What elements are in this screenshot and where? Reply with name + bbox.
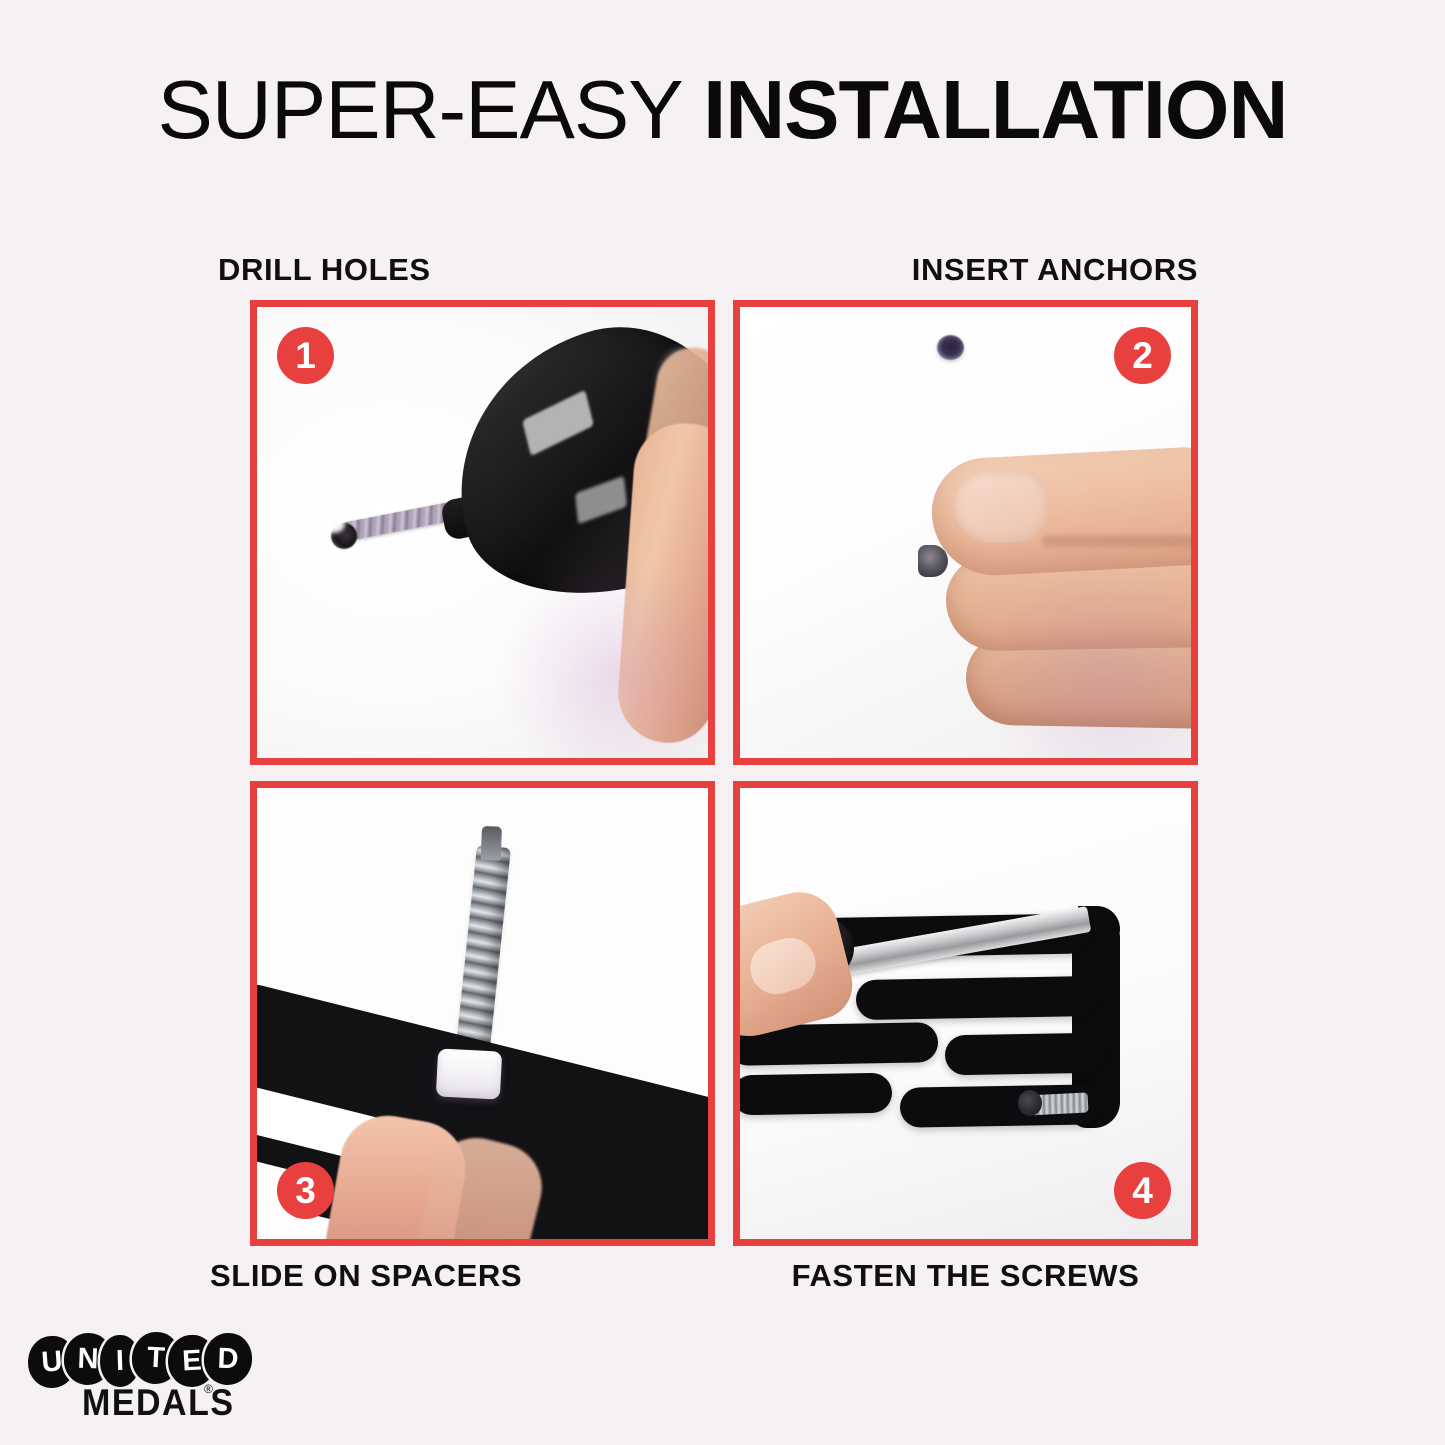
lens-flare [981, 558, 1191, 758]
step-2-badge: 2 [1114, 327, 1171, 384]
lens-flare [498, 558, 708, 758]
step-1-panel: 1 [250, 300, 715, 765]
hanger-bar-2 [856, 976, 1099, 1020]
logo-letter-blob: D [203, 1332, 253, 1386]
bottom-screw-head-icon [1018, 1090, 1042, 1116]
title-light-part: SUPER-EASY [158, 63, 704, 156]
step-4-badge: 4 [1114, 1162, 1171, 1219]
step-4-caption: FASTEN THE SCREWS [733, 1258, 1198, 1294]
infographic-root: SUPER-EASY INSTALLATION DRILL HOLES INSE… [0, 0, 1445, 1445]
step-1-caption: DRILL HOLES [218, 252, 431, 288]
thumbnail-icon [954, 471, 1048, 543]
step-1-badge: 1 [277, 327, 334, 384]
step-3-panel: 3 [250, 781, 715, 1246]
drill-dust-icon [323, 515, 345, 533]
step-2-caption: INSERT ANCHORS [733, 252, 1198, 288]
hanger-bar-4 [945, 1033, 1106, 1076]
united-medals-logo: U N I T E D MEDALS ® [28, 1332, 258, 1432]
step-3-caption: SLIDE ON SPACERS [210, 1258, 522, 1294]
knuckle-crease [1042, 535, 1191, 547]
drilled-hole-icon [937, 335, 964, 360]
logo-wordmark: U N I T E D [28, 1332, 252, 1388]
step-2-panel: 2 [733, 300, 1198, 765]
title-bold-part: INSTALLATION [703, 63, 1287, 156]
page-title: SUPER-EASY INSTALLATION [0, 66, 1445, 153]
step-3-badge: 3 [277, 1162, 334, 1219]
hanger-bar-5 [740, 1073, 892, 1116]
step-4-panel: 4 [733, 781, 1198, 1246]
registered-trademark-icon: ® [204, 1382, 213, 1396]
white-spacer-icon [436, 1048, 502, 1099]
